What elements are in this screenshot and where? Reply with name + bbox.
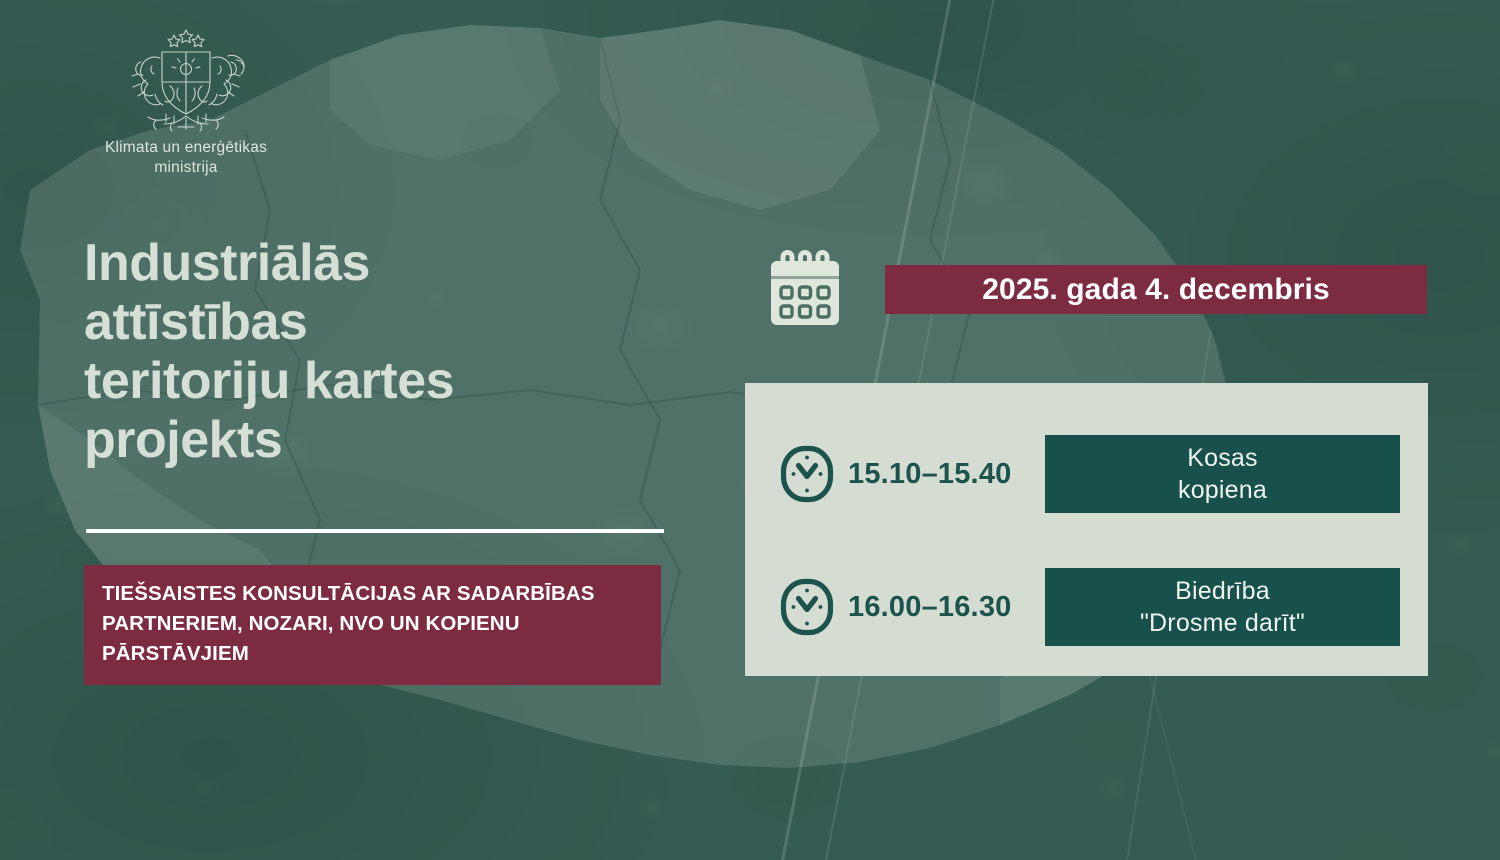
latvia-coat-of-arms-icon	[110, 26, 262, 132]
schedule-speaker-line1: Kosas	[1187, 442, 1257, 474]
clock-icon	[780, 578, 834, 636]
schedule-speaker-line2: kopiena	[1178, 474, 1267, 506]
ministry-name-line2: ministrija	[86, 158, 286, 178]
schedule-speaker-line1: Biedrība	[1175, 575, 1270, 607]
schedule-time-cell: 16.00–16.30	[745, 578, 1045, 636]
schedule-speaker-box: Kosas kopiena	[1045, 435, 1400, 513]
subtitle-banner: Tiešsaistes konsultācijas ar sadarbības …	[84, 565, 661, 685]
schedule-row: 16.00–16.30 Biedrība "Drosme darīt"	[745, 568, 1428, 646]
schedule-time-cell: 15.10–15.40	[745, 445, 1045, 503]
page-title-line1: Industriālās	[84, 234, 370, 292]
title-divider	[86, 529, 664, 533]
page-title-line3: teritoriju kartes	[84, 352, 454, 410]
ministry-logo: Klimata un enerģētikas ministrija	[86, 26, 286, 178]
event-date-badge: 2025. gada 4. decembris	[885, 265, 1427, 314]
schedule-row: 15.10–15.40 Kosas kopiena	[745, 435, 1428, 513]
ministry-name: Klimata un enerģētikas ministrija	[86, 138, 286, 178]
schedule-time: 15.10–15.40	[848, 458, 1011, 491]
page-title-line2: attīstības	[84, 293, 307, 351]
schedule-speaker-line2: "Drosme darīt"	[1140, 607, 1305, 639]
page-title: Industriālās attīstības teritoriju karte…	[84, 234, 694, 470]
schedule-speaker-box: Biedrība "Drosme darīt"	[1045, 568, 1400, 646]
page-title-line4: projekts	[84, 411, 282, 469]
event-date-text: 2025. gada 4. decembris	[982, 273, 1330, 307]
schedule-panel: 15.10–15.40 Kosas kopiena 16.00–16.30	[745, 383, 1428, 676]
subtitle-text: Tiešsaistes konsultācijas ar sadarbības …	[102, 579, 645, 669]
clock-icon	[780, 445, 834, 503]
poster-canvas: Klimata un enerģētikas ministrija Indust…	[0, 0, 1500, 860]
schedule-time: 16.00–16.30	[848, 591, 1011, 624]
calendar-icon	[766, 250, 844, 330]
ministry-name-line1: Klimata un enerģētikas	[86, 138, 286, 158]
